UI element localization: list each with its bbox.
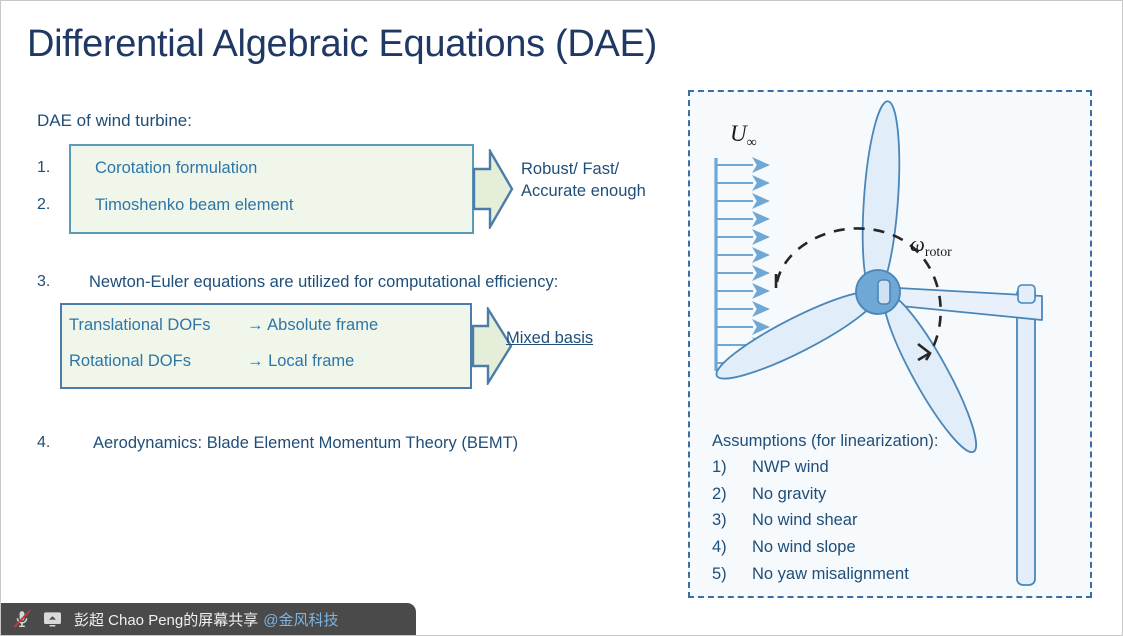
list-marker-3: 3.: [37, 273, 50, 291]
assumption-text-4: No wind slope: [752, 538, 856, 556]
callout-mixed-basis: Mixed basis: [506, 327, 593, 349]
chevron-right-icon-1: [472, 149, 514, 229]
list-marker-1: 1.: [37, 159, 50, 177]
list-item: 4)No wind slope: [712, 534, 1082, 561]
list-item: 5)No yaw misalignment: [712, 561, 1082, 588]
left-content-column: DAE of wind turbine: 1. 2. Corotation fo…: [31, 105, 681, 505]
wind-speed-label: U∞: [730, 121, 757, 152]
rotor-speed-label: ωrotor: [910, 232, 952, 260]
assumption-text-1: NWP wind: [752, 458, 829, 476]
rotor-speed-symbol: ω: [910, 232, 925, 256]
newton-euler-heading: Newton-Euler equations are utilized for …: [89, 273, 558, 292]
share-owner-label: 彭超 Chao Peng的屏幕共享: [74, 609, 258, 630]
wind-speed-symbol: U: [730, 121, 747, 146]
formulation-line-1: Corotation formulation: [95, 159, 257, 178]
assumption-marker-2: 2): [712, 481, 752, 508]
page-title: Differential Algebraic Equations (DAE): [27, 23, 657, 66]
list-item: 1)NWP wind: [712, 454, 1082, 481]
mixed-basis-box: Translational DOFs → Absolute frame Rota…: [60, 303, 472, 389]
screen-share-taskbar[interactable]: 彭超 Chao Peng的屏幕共享 @金风科技: [1, 603, 416, 635]
assumptions-block: Assumptions (for linearization): 1)NWP w…: [712, 432, 1082, 588]
wind-profile-group: [716, 158, 753, 371]
list-marker-4: 4.: [37, 434, 50, 452]
share-owner-handle: @金风科技: [263, 609, 338, 630]
list-item: 3)No wind shear: [712, 507, 1082, 534]
assumption-text-2: No gravity: [752, 485, 826, 503]
turbine-blade-1: [857, 100, 905, 298]
assumption-marker-4: 4): [712, 534, 752, 561]
microphone-muted-icon[interactable]: [10, 608, 34, 630]
wind-turbine-diagram-panel: U∞ ωrotor Assumptions (for linearization…: [688, 90, 1092, 598]
wind-speed-subscript: ∞: [747, 135, 757, 151]
dof-row-2-right: → Local frame: [247, 352, 354, 371]
screen-share-icon[interactable]: [40, 608, 64, 630]
assumption-marker-3: 3): [712, 507, 752, 534]
formulation-line-2: Timoshenko beam element: [95, 196, 293, 215]
dof-row-2-left: Rotational DOFs: [69, 352, 191, 371]
callout-robust-fast-line1: Robust/ Fast/: [521, 158, 646, 180]
list-marker-2: 2.: [37, 196, 50, 214]
dof-row-1-left: Translational DOFs: [69, 316, 211, 335]
formulation-box: Corotation formulation Timoshenko beam e…: [69, 144, 474, 234]
assumption-text-5: No yaw misalignment: [752, 565, 909, 583]
list-item: 2)No gravity: [712, 481, 1082, 508]
dof-row-1-right: → Absolute frame: [247, 316, 378, 335]
presentation-slide: Differential Algebraic Equations (DAE) D…: [0, 0, 1123, 636]
turbine-yaw-bearing: [1018, 285, 1035, 303]
rotor-speed-subscript: rotor: [925, 244, 952, 259]
aerodynamics-line: Aerodynamics: Blade Element Momentum The…: [93, 434, 518, 453]
assumption-marker-5: 5): [712, 561, 752, 588]
rotor-blades-group: [709, 100, 988, 460]
assumptions-heading: Assumptions (for linearization):: [712, 432, 1082, 451]
assumption-marker-1: 1): [712, 454, 752, 481]
assumptions-list: 1)NWP wind 2)No gravity 3)No wind shear …: [712, 454, 1082, 588]
hub-shaft: [878, 280, 890, 304]
callout-robust-fast-line2: Accurate enough: [521, 180, 646, 202]
assumption-text-3: No wind shear: [752, 511, 857, 529]
callout-robust-fast: Robust/ Fast/ Accurate enough: [521, 158, 646, 203]
dae-intro-label: DAE of wind turbine:: [37, 111, 192, 131]
